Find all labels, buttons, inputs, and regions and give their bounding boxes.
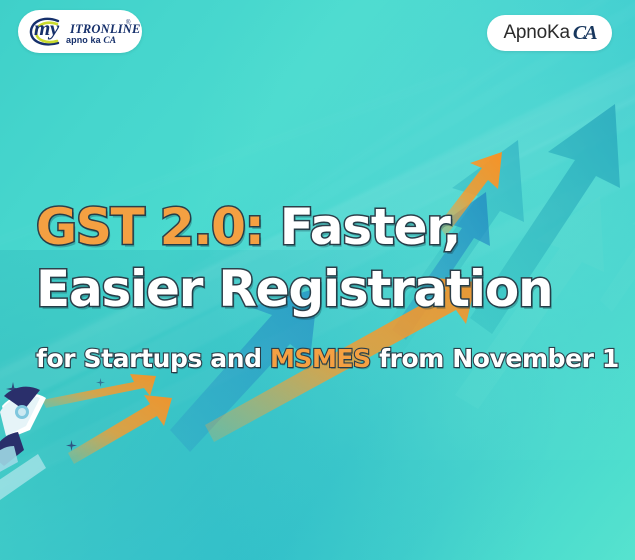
orange-growth-arrow — [68, 395, 172, 464]
logo-tagline: apno ka CA — [66, 35, 116, 46]
apnoka-label: ApnoKa — [503, 22, 569, 44]
subheadline: for Startups and MSMES from November 1 — [36, 343, 619, 375]
rocket-illustration — [0, 368, 92, 508]
sparkle-accent — [66, 440, 77, 451]
subheadline-suffix: from November 1 — [371, 344, 619, 373]
headline-line-1-rest: Faster, — [264, 198, 461, 256]
orange-growth-arrow — [42, 374, 156, 408]
myitronline-logo-badge[interactable]: my ITRONLINE ® apno ka CA — [18, 10, 142, 53]
headline-line-1: GST 2.0: Faster, — [36, 196, 616, 258]
ca-mark-icon: CA — [573, 22, 596, 45]
diagonal-light-band — [0, 119, 635, 560]
headline-block: GST 2.0: Faster, Easier Registration — [36, 196, 616, 320]
logo-tagline-text: apno ka — [66, 35, 101, 45]
headline-line-2: Easier Registration — [36, 258, 616, 320]
promo-banner: my ITRONLINE ® apno ka CA ApnoKa CA GST … — [0, 0, 635, 560]
headline-highlight-gst: GST 2.0: — [36, 198, 264, 256]
sparkle-accent — [96, 378, 105, 387]
logo-word-my: my — [34, 16, 59, 41]
logo-tagline-ca: CA — [103, 36, 116, 46]
sparkle-accent — [6, 382, 20, 396]
apnoka-ca-logo-badge[interactable]: ApnoKa CA — [487, 15, 612, 51]
registered-mark-icon: ® — [126, 20, 130, 26]
subheadline-highlight-msmes: MSMES — [270, 344, 371, 373]
subheadline-prefix: for Startups and — [36, 344, 270, 373]
